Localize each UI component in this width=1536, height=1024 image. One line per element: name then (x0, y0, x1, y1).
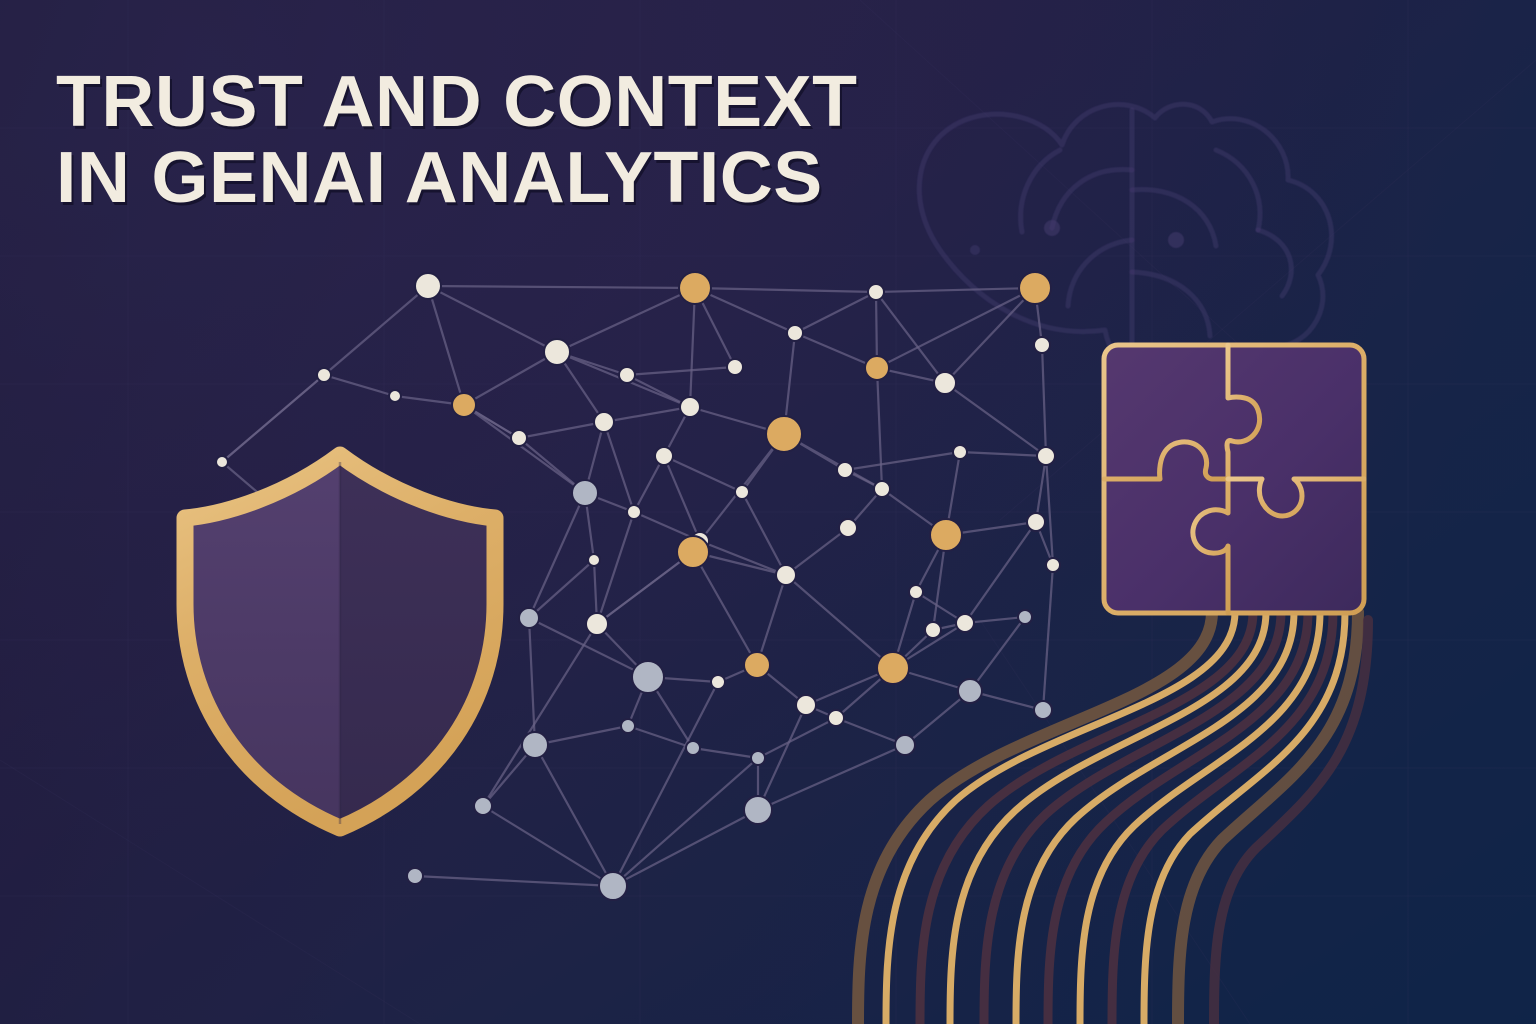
title-line-2: IN GENAI ANALYTICS (56, 144, 858, 214)
page-title: TRUST AND CONTEXT IN GENAI ANALYTICS (56, 68, 842, 214)
title-line-1: TRUST AND CONTEXT (56, 68, 858, 138)
hero-banner: TRUST AND CONTEXT IN GENAI ANALYTICS (0, 0, 1536, 1024)
